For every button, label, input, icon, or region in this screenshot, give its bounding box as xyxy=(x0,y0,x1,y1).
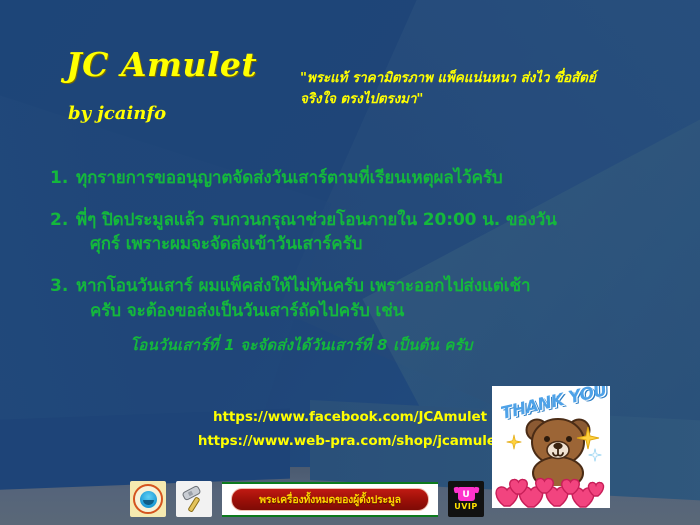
list-item-body: พี่ๆ ปิดประมูลแล้ว รบกวนกรุณาช่วยโอนภายใ… xyxy=(76,208,557,256)
list-item-line-2: ครับ จะต้องขอส่งเป็นวันเสาร์ถัดไปครับ เช… xyxy=(76,299,530,323)
list-item-number: 2. xyxy=(50,208,76,256)
list-item: 3. หากโอนวันเสาร์ ผมแพ็คส่งให้ไม่ทันครับ… xyxy=(50,274,660,322)
example-text: โอนวันเสาร์ที่ 1 จะจัดส่งได้วันเสาร์ที่ … xyxy=(130,333,473,357)
amulet-ring xyxy=(133,484,163,514)
list-item-line-1: ทุกรายการขออนุญาตจัดส่งวันเสาร์ตามที่เรี… xyxy=(76,168,503,188)
thank-you-sticker: THANK YOU xyxy=(492,386,610,508)
list-item-line-1: หากโอนวันเสาร์ ผมแพ็คส่งให้ไม่ทันครับ เพ… xyxy=(76,276,530,296)
uvip-label: UVIP xyxy=(454,502,478,511)
shipping-notes-list: 1. ทุกรายการขออนุญาตจัดส่งวันเสาร์ตามที่… xyxy=(50,166,660,341)
sparkle-icon xyxy=(506,434,522,450)
list-item-body: ทุกรายการขออนุญาตจัดส่งวันเสาร์ตามที่เรี… xyxy=(76,166,503,190)
sparkle-icon xyxy=(588,448,602,462)
amulet-shop-icon[interactable] xyxy=(130,481,166,517)
list-item-line-2: ศุกร์ เพราะผมจะจัดส่งเข้าวันเสาร์ครับ xyxy=(76,232,557,256)
uvip-shirt-letter: U xyxy=(462,489,469,501)
all-amulets-banner-label: พระเครื่องทั้งหมดของผู้ตั้งประมูล xyxy=(259,491,401,508)
shop-slogan: "พระแท้ ราคามิตรภาพ แพ็คแน่นหนา ส่งไว ซื… xyxy=(300,68,670,110)
list-item-body: หากโอนวันเสาร์ ผมแพ็คส่งให้ไม่ทันครับ เพ… xyxy=(76,274,530,322)
shop-slogan-line-1: "พระแท้ ราคามิตรภาพ แพ็คแน่นหนา ส่งไว ซื… xyxy=(300,68,670,89)
shop-byline: by jcainfo xyxy=(68,103,166,124)
list-item-line-1: พี่ๆ ปิดประมูลแล้ว รบกวนกรุณาช่วยโอนภายใ… xyxy=(76,210,557,230)
uvip-badge-icon[interactable]: U UVIP xyxy=(448,481,484,517)
list-item: 1. ทุกรายการขออนุญาตจัดส่งวันเสาร์ตามที่… xyxy=(50,166,660,190)
list-item-number: 3. xyxy=(50,274,76,322)
poster-canvas: JC Amulet by jcainfo "พระแท้ ราคามิตรภาพ… xyxy=(0,0,700,525)
hearts-decoration xyxy=(492,460,610,508)
sparkle-icon xyxy=(576,426,600,450)
auction-hammer-icon[interactable] xyxy=(176,481,212,517)
shop-slogan-line-2: จริงใจ ตรงไปตรงมา" xyxy=(300,89,670,110)
shop-title: JC Amulet xyxy=(66,45,257,84)
list-item-number: 1. xyxy=(50,166,76,190)
badge-row: พระเครื่องทั้งหมดของผู้ตั้งประมูล U UVIP xyxy=(130,481,484,517)
list-item: 2. พี่ๆ ปิดประมูลแล้ว รบกวนกรุณาช่วยโอนภ… xyxy=(50,208,660,256)
all-amulets-banner[interactable]: พระเครื่องทั้งหมดของผู้ตั้งประมูล xyxy=(222,482,438,517)
all-amulets-banner-pill: พระเครื่องทั้งหมดของผู้ตั้งประมูล xyxy=(231,488,429,511)
uvip-shirt-icon: U xyxy=(458,487,475,501)
amulet-face xyxy=(140,491,157,508)
